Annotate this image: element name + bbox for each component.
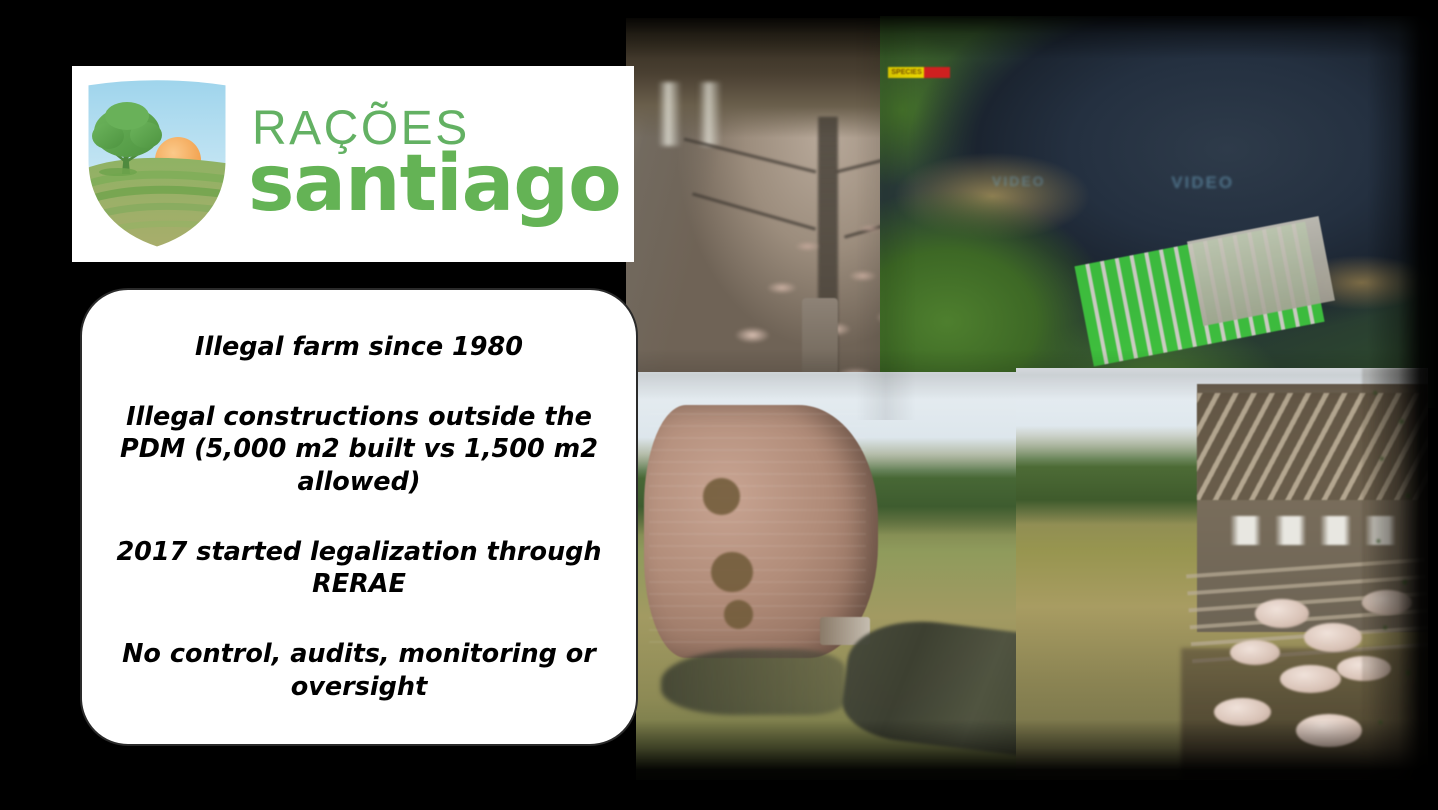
pig: [1230, 640, 1279, 665]
photo-open-pig-shelter: [1016, 368, 1428, 780]
photo-slurry-tanker-discharge: [636, 372, 1054, 780]
video-watermark-secondary: VIDEO: [992, 173, 1046, 189]
tank-banding: [649, 413, 866, 650]
rust-patch: [711, 552, 753, 593]
pig: [1255, 599, 1309, 628]
brand-logo-box: RAÇÕES santiago: [72, 66, 634, 262]
bullet-point-3: 2017 started legalization through RERAE: [108, 536, 610, 601]
brand-wordmark: RAÇÕES santiago: [248, 105, 634, 223]
photo-collage: VIDEO VIDEO SPECIES: [516, 0, 1438, 800]
photo-aerial-slurry-lagoon: VIDEO VIDEO SPECIES: [880, 16, 1438, 408]
channel-badge: SPECIES: [888, 67, 950, 78]
rust-patch: [703, 478, 741, 515]
foliage-overlay: [1362, 368, 1428, 780]
rust-patch: [724, 600, 753, 629]
bullet-point-1: Illegal farm since 1980: [108, 331, 610, 364]
slurry-pool: [661, 649, 845, 714]
video-watermark: VIDEO: [1171, 173, 1234, 193]
slide-root: VIDEO VIDEO SPECIES: [0, 0, 1438, 810]
pig: [1296, 714, 1362, 747]
key-points-box: Illegal farm since 1980 Illegal construc…: [80, 288, 638, 746]
bullet-point-2: Illegal constructions outside the PDM (5…: [108, 401, 610, 499]
bullet-point-4: No control, audits, monitoring or oversi…: [108, 638, 610, 703]
brand-name-santiago: santiago: [248, 145, 634, 223]
farm-shield-icon: [82, 78, 232, 250]
